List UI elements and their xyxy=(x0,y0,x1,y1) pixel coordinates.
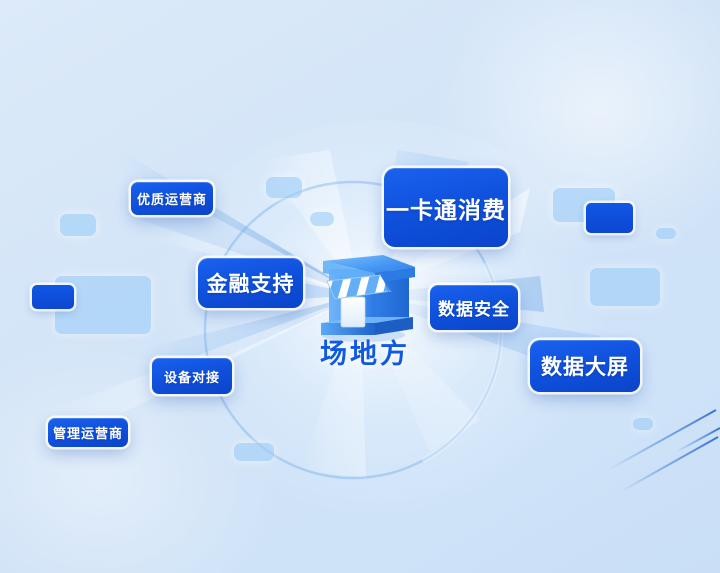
label-card-one-card-payment[interactable]: 一卡通消费 xyxy=(384,168,508,247)
decorative-rect-pale xyxy=(310,212,334,226)
decorative-rect-pale xyxy=(656,228,676,239)
decorative-rect-pale xyxy=(60,214,96,236)
storefront-icon xyxy=(305,243,425,343)
bottom-left-glow xyxy=(0,330,280,573)
decorative-rect-pale xyxy=(266,177,302,198)
decorative-rect-pale xyxy=(553,188,615,222)
label-card-management-operator[interactable]: 管理运营商 xyxy=(48,418,128,447)
label-card-data-security[interactable]: 数据安全 xyxy=(430,285,518,330)
label-card-device-docking[interactable]: 设备对接 xyxy=(152,358,232,394)
decorative-rect-solid xyxy=(32,285,74,309)
decorative-rect-solid xyxy=(586,203,633,233)
label-card-premium-operator[interactable]: 优质运营商 xyxy=(131,182,213,215)
infographic-canvas: 场地方 优质运营商一卡通消费金融支持数据安全数据大屏设备对接管理运营商 xyxy=(0,0,720,573)
center-label: 场地方 xyxy=(285,332,445,371)
decorative-rect-pale xyxy=(55,276,151,334)
decorative-rect-pale xyxy=(590,268,660,306)
label-card-data-dashboard[interactable]: 数据大屏 xyxy=(530,340,640,392)
label-card-financial-support[interactable]: 金融支持 xyxy=(198,258,303,308)
decorative-rect-pale xyxy=(234,443,274,461)
decorative-rect-pale xyxy=(633,418,653,430)
